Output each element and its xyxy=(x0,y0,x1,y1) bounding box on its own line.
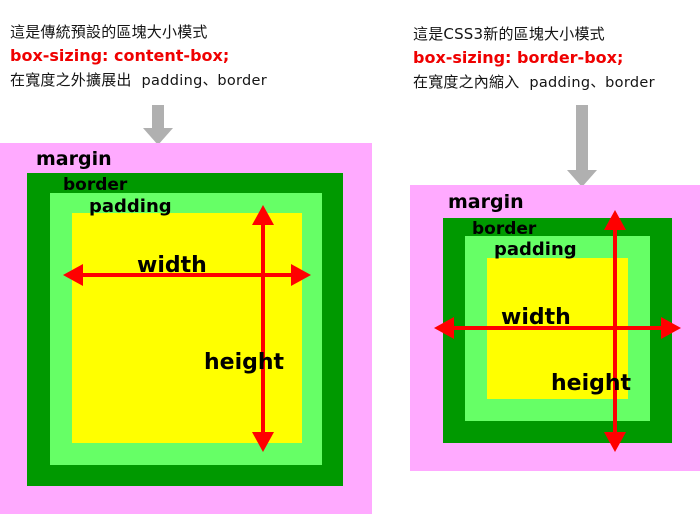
width-label-right: width xyxy=(501,307,571,329)
arrow-shaft xyxy=(576,105,588,170)
arrow-head-right xyxy=(291,264,311,286)
padding-label-left: padding xyxy=(89,198,172,216)
caption-right-line-3: 在寬度之內縮入 padding、border xyxy=(413,70,655,95)
arrow-head-bottom xyxy=(604,432,626,452)
caption-left-code: box-sizing: content-box; xyxy=(10,44,267,68)
down-arrow-icon-right xyxy=(567,105,597,187)
caption-content-box: 這是傳統預設的區塊大小模式 box-sizing: content-box; 在… xyxy=(10,20,267,93)
arrow-shaft xyxy=(152,105,164,128)
caption-border-box: 這是CSS3新的區塊大小模式 box-sizing: border-box; 在… xyxy=(413,22,655,95)
border-label-right: border xyxy=(472,221,536,238)
caption-left-line-1: 這是傳統預設的區塊大小模式 xyxy=(10,20,267,44)
height-label-right: height xyxy=(551,373,631,395)
caption-left-line-3: 在寬度之外擴展出 padding、border xyxy=(10,68,267,93)
caption-right-code: box-sizing: border-box; xyxy=(413,46,655,70)
down-arrow-icon-left xyxy=(143,105,173,145)
border-label-left: border xyxy=(63,177,127,194)
padding-label-right: padding xyxy=(494,241,577,259)
margin-label-right: margin xyxy=(448,193,524,212)
margin-label-left: margin xyxy=(36,150,112,169)
height-arrow-right xyxy=(604,210,626,452)
diagram-canvas: 這是傳統預設的區塊大小模式 box-sizing: content-box; 在… xyxy=(0,0,700,514)
arrow-head-right xyxy=(661,317,681,339)
caption-right-line-1: 這是CSS3新的區塊大小模式 xyxy=(413,22,655,46)
arrow-shaft xyxy=(613,226,617,436)
caption-left-line-3-cjk: 在寬度之外擴展出 xyxy=(10,71,132,89)
arrow-shaft xyxy=(261,221,265,436)
arrow-head-bottom xyxy=(252,432,274,452)
height-arrow-left xyxy=(252,205,274,452)
height-label-left: height xyxy=(204,352,284,374)
caption-left-line-3-latin: padding、border xyxy=(142,73,268,89)
caption-right-line-3-latin: padding、border xyxy=(529,75,655,91)
width-label-left: width xyxy=(137,255,207,277)
caption-right-line-3-cjk: 在寬度之內縮入 xyxy=(413,73,519,91)
